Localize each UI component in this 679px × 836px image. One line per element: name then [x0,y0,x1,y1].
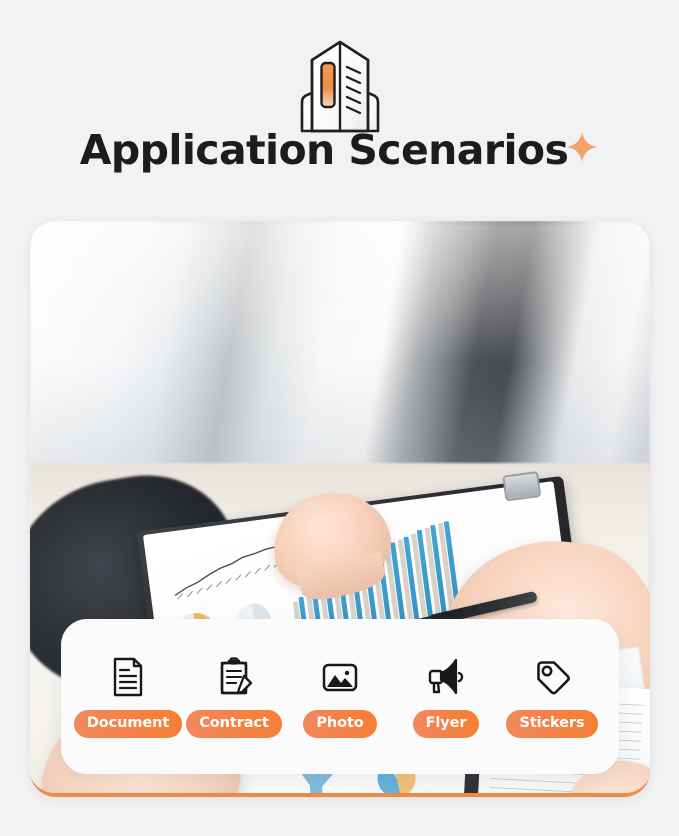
category-item-stickers[interactable]: Stickers [500,655,604,738]
category-card: Document Contract [61,619,619,774]
category-label-document: Document [74,710,182,738]
category-label-flyer: Flyer [413,710,480,738]
category-item-document[interactable]: Document [76,655,180,738]
application-scenarios-page: Application Scenarios [0,0,679,836]
category-item-flyer[interactable]: Flyer [394,655,498,738]
building-icon [280,36,400,136]
category-item-photo[interactable]: Photo [288,655,392,738]
tag-icon [530,655,574,699]
page-header: Application Scenarios [0,0,679,200]
clipboard-pencil-icon [212,655,256,699]
category-label-stickers: Stickers [506,710,597,738]
title-row: Application Scenarios [0,128,679,174]
clipboard-clip [502,471,541,501]
category-item-contract[interactable]: Contract [182,655,286,738]
category-label-photo: Photo [303,710,376,738]
category-label-contract: Contract [186,710,282,738]
photo-background-highlight [30,221,650,476]
sparkle-icon [565,130,599,164]
page-title: Application Scenarios [80,128,569,174]
document-icon [106,655,150,699]
image-icon [318,655,362,699]
megaphone-icon [424,655,468,699]
